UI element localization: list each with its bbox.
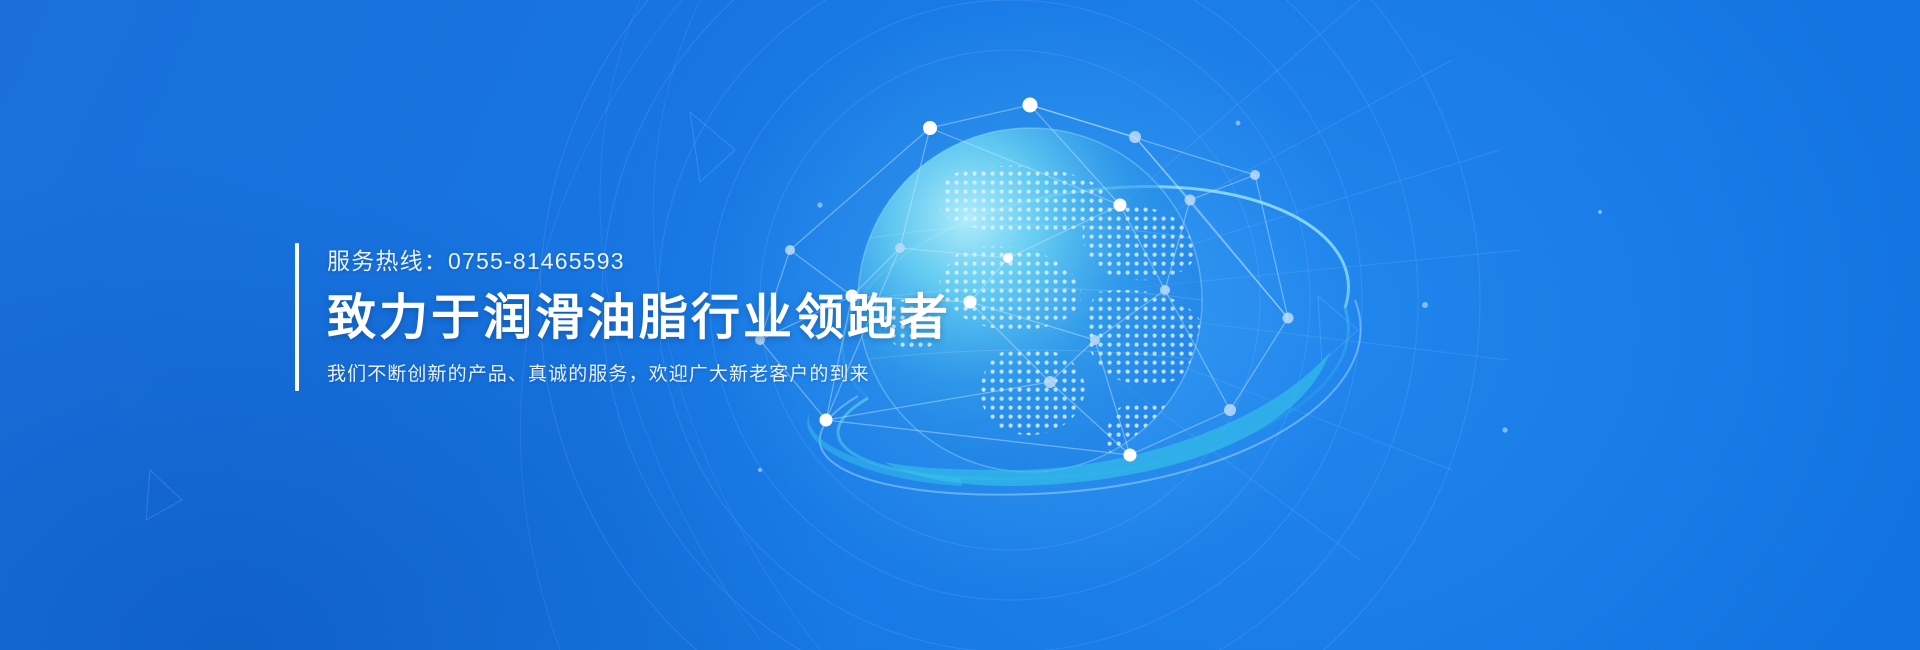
page-title: 致力于润滑油脂行业领跑者 [327,273,951,343]
accent-bar [295,243,299,391]
hero-text-block: 服务热线：0755-81465593 致力于润滑油脂行业领跑者 我们不断创新的产… [295,243,951,391]
network-globe-illustration [0,0,1920,650]
hotline-text: 服务热线：0755-81465593 [327,243,951,273]
hero-banner: 服务热线：0755-81465593 致力于润滑油脂行业领跑者 我们不断创新的产… [0,0,1920,650]
hero-subtitle: 我们不断创新的产品、真诚的服务，欢迎广大新老客户的到来 [327,343,951,384]
